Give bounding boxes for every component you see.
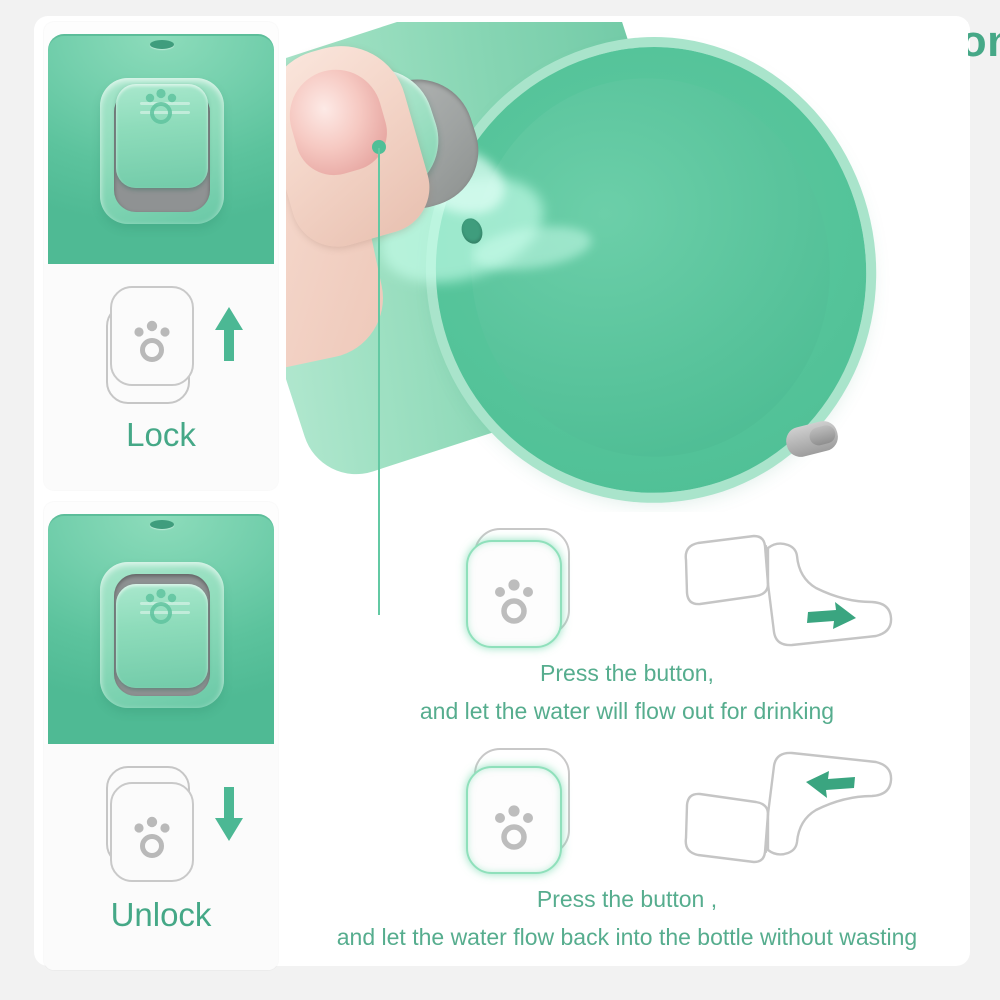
water-flow-out-diagram <box>676 526 906 652</box>
button-pressed-outline <box>466 766 562 874</box>
paw-icon <box>138 84 186 128</box>
water-flow-back-diagram <box>676 746 906 872</box>
paw-icon <box>468 542 560 646</box>
unlock-panel: Unlock <box>44 502 278 970</box>
instruction-line-2: and let the water will flow out for drin… <box>286 694 968 728</box>
lock-label: Lock <box>44 414 278 456</box>
instruction-flow-back: Press the button , and let the water flo… <box>286 736 968 962</box>
instruction-flow-out: Press the button, and let the water will… <box>286 516 968 736</box>
arrow-right-icon <box>807 602 856 629</box>
unlock-button-illustration <box>106 766 192 878</box>
paw-icon <box>468 768 560 872</box>
physical-paw-button <box>116 584 208 688</box>
button-recess <box>100 562 224 708</box>
press-button-illustration <box>466 748 572 866</box>
hero-product-photo <box>286 22 968 512</box>
unlock-diagram: Unlock <box>44 744 278 970</box>
lock-product-photo <box>44 22 278 264</box>
instruction-line-1: Press the button , <box>286 882 968 916</box>
arrow-left-icon <box>806 771 855 798</box>
vent-hole <box>150 520 174 529</box>
arrow-up-icon <box>212 304 246 364</box>
press-button-illustration <box>466 528 572 646</box>
paw-icon <box>138 584 186 628</box>
unlock-label: Unlock <box>44 894 278 936</box>
lock-diagram: Lock <box>44 264 278 490</box>
paw-icon <box>112 288 192 384</box>
button-pressed-outline <box>466 540 562 648</box>
paw-icon <box>112 784 192 880</box>
instruction-line-2: and let the water flow back into the bot… <box>286 920 968 954</box>
physical-paw-button <box>116 84 208 188</box>
lock-panel: Lock <box>44 22 278 490</box>
infographic-canvas: Upgrade Bigger Button <box>0 0 1000 1000</box>
button-front-outline <box>110 286 194 386</box>
button-front-outline <box>110 782 194 882</box>
vent-hole <box>150 40 174 49</box>
instruction-line-1: Press the button, <box>286 656 968 690</box>
unlock-product-photo <box>44 502 278 744</box>
lock-button-illustration <box>106 286 192 398</box>
arrow-down-icon <box>212 784 246 844</box>
button-recess <box>100 78 224 224</box>
